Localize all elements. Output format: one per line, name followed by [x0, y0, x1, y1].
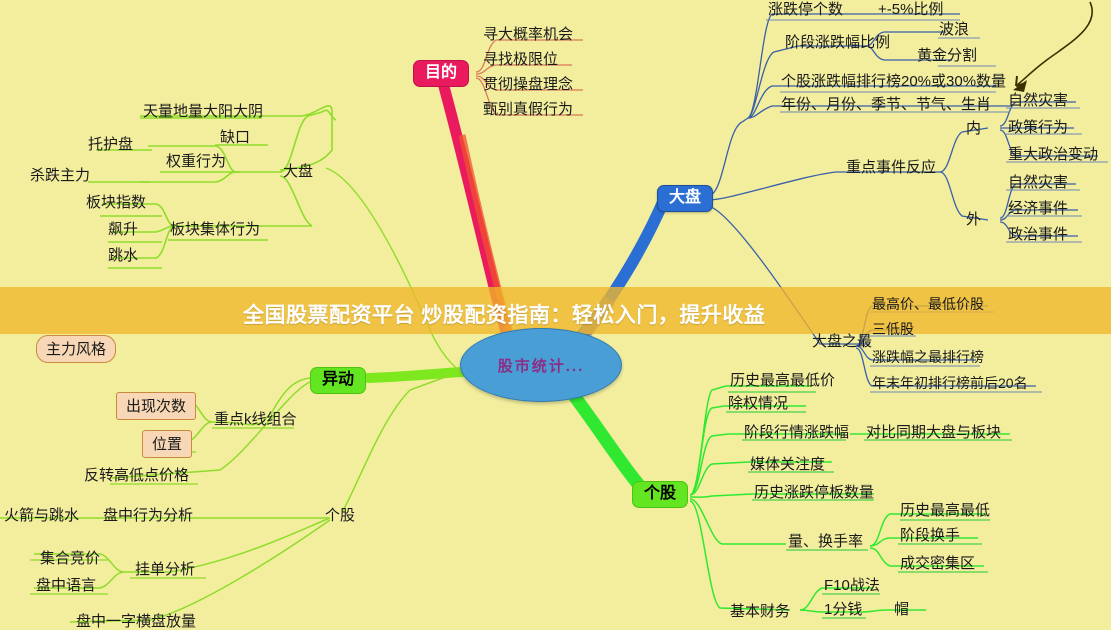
- dapan-left-child-2[interactable]: 权重行为: [166, 154, 226, 169]
- gegu-right-5[interactable]: 量、换手率: [788, 534, 863, 549]
- gegu-right-2[interactable]: 阶段行情涨跌幅: [744, 425, 849, 440]
- liang-sub-2[interactable]: 成交密集区: [900, 556, 975, 571]
- guadan-fenxi[interactable]: 挂单分析: [135, 562, 195, 577]
- dapan-left-child-1[interactable]: 缺口: [220, 130, 250, 145]
- jiben-caiwu-sub-1[interactable]: 1分钱: [824, 602, 862, 617]
- node-mudi[interactable]: 目的: [413, 60, 469, 87]
- node-dapan-blue[interactable]: 大盘: [657, 185, 713, 212]
- dapan-right-5[interactable]: 大盘之最: [812, 334, 872, 349]
- zhongdian-inner-2[interactable]: 重大政治变动: [1008, 147, 1098, 162]
- dapan-right-4[interactable]: 重点事件反应: [846, 160, 936, 175]
- dapanzhizui-3[interactable]: 年末年初排行榜前后20名: [872, 376, 1028, 390]
- dapan-right-3[interactable]: 年份、月份、季节、节气、生肖: [781, 97, 991, 112]
- dapanzhizui-1[interactable]: 三低股: [872, 322, 914, 336]
- gegu-right-6[interactable]: 基本财务: [730, 604, 790, 619]
- node-yidong[interactable]: 异动: [310, 367, 366, 394]
- jiben-caiwu-sub-0[interactable]: F10战法: [824, 578, 880, 593]
- mudi-child-2[interactable]: 贯彻操盘理念: [483, 77, 573, 92]
- mudi-child-0[interactable]: 寻大概率机会: [483, 27, 573, 42]
- gegu-right-0[interactable]: 历史最高最低价: [730, 373, 835, 388]
- fanzhuan-gaodidian[interactable]: 反转高低点价格: [84, 468, 189, 483]
- quanzhong-sub-0[interactable]: 托护盘: [88, 137, 133, 152]
- zhongdian-outer-0[interactable]: 自然灾害: [1008, 175, 1068, 190]
- mudi-child-1[interactable]: 寻找极限位: [483, 52, 558, 67]
- dapan-right-0-note: +-5%比例: [878, 2, 943, 17]
- zhulifengge-boxed[interactable]: 主力风格: [36, 335, 116, 363]
- chuxiancishu-boxed[interactable]: 出现次数: [116, 392, 196, 420]
- huojian-yu-tiaoshui[interactable]: 火箭与跳水: [4, 508, 79, 523]
- dapan-left-child-0[interactable]: 天量地量大阳大阴: [143, 104, 263, 119]
- dapanzhizui-0[interactable]: 最高价、最低价股: [872, 297, 984, 311]
- liang-sub-1[interactable]: 阶段换手: [900, 528, 960, 543]
- zhongdian-group-outer-label: 外: [966, 212, 981, 227]
- liang-sub-0[interactable]: 历史最高最低: [900, 503, 990, 518]
- curved-arrow: [1013, 2, 1092, 92]
- mindmap-canvas: 全国股票配资平台 炒股配资指南：轻松入门，提升收益 股市统计... 目的 大盘 …: [0, 0, 1111, 627]
- dapan-right-1[interactable]: 阶段涨跌幅比例: [785, 35, 890, 50]
- title-banner-text: 全国股票配资平台 炒股配资指南：轻松入门，提升收益: [243, 299, 765, 329]
- dapan-right-2[interactable]: 个股涨跌幅排行榜20%或30%数量: [781, 74, 1006, 89]
- gegu-left-label[interactable]: 个股: [325, 508, 355, 523]
- gegu-right-3[interactable]: 媒体关注度: [750, 457, 825, 472]
- quanzhong-sub-1[interactable]: 杀跌主力: [30, 168, 90, 183]
- jieduan-sub-1[interactable]: 黄金分割: [917, 48, 977, 63]
- zhongdian-outer-1[interactable]: 经济事件: [1008, 201, 1068, 216]
- jiben-caiwu-sub-2[interactable]: 帽: [894, 602, 909, 617]
- weizhi-boxed[interactable]: 位置: [142, 430, 192, 458]
- gegu-right-1[interactable]: 除权情况: [728, 396, 788, 411]
- zhongdian-kxian-zuhe[interactable]: 重点k线组合: [214, 412, 297, 427]
- gegu-right-2-sub-0[interactable]: 对比同期大盘与板块: [866, 425, 1001, 440]
- dapan-left-label[interactable]: 大盘: [283, 164, 313, 179]
- jihe-jingjia[interactable]: 集合竞价: [40, 551, 100, 566]
- dapan-right-0[interactable]: 涨跌停个数: [768, 2, 843, 17]
- zhongdian-inner-1[interactable]: 政策行为: [1008, 120, 1068, 135]
- jieduan-sub-0[interactable]: 波浪: [939, 22, 969, 37]
- bankuai-sub-0[interactable]: 板块指数: [86, 195, 146, 210]
- dapanzhizui-2[interactable]: 涨跌幅之最排行榜: [872, 350, 984, 364]
- mudi-child-3[interactable]: 甄别真假行为: [483, 102, 573, 117]
- bankuai-sub-2[interactable]: 跳水: [108, 248, 138, 263]
- zhongdian-outer-2[interactable]: 政治事件: [1008, 227, 1068, 242]
- node-gegu[interactable]: 个股: [632, 481, 688, 508]
- zhongdian-group-inner-label: 内: [966, 121, 981, 136]
- center-node[interactable]: 股市统计...: [460, 328, 622, 402]
- bankuai-sub-1[interactable]: 飙升: [108, 222, 138, 237]
- zhongdian-inner-0[interactable]: 自然灾害: [1008, 93, 1068, 108]
- gegu-right-4[interactable]: 历史涨跌停板数量: [754, 485, 874, 500]
- dapan-left-child-3[interactable]: 板块集体行为: [170, 222, 260, 237]
- panzhong-xingwei-fenxi[interactable]: 盘中行为分析: [103, 508, 193, 523]
- panzhong-yuyan[interactable]: 盘中语言: [36, 578, 96, 593]
